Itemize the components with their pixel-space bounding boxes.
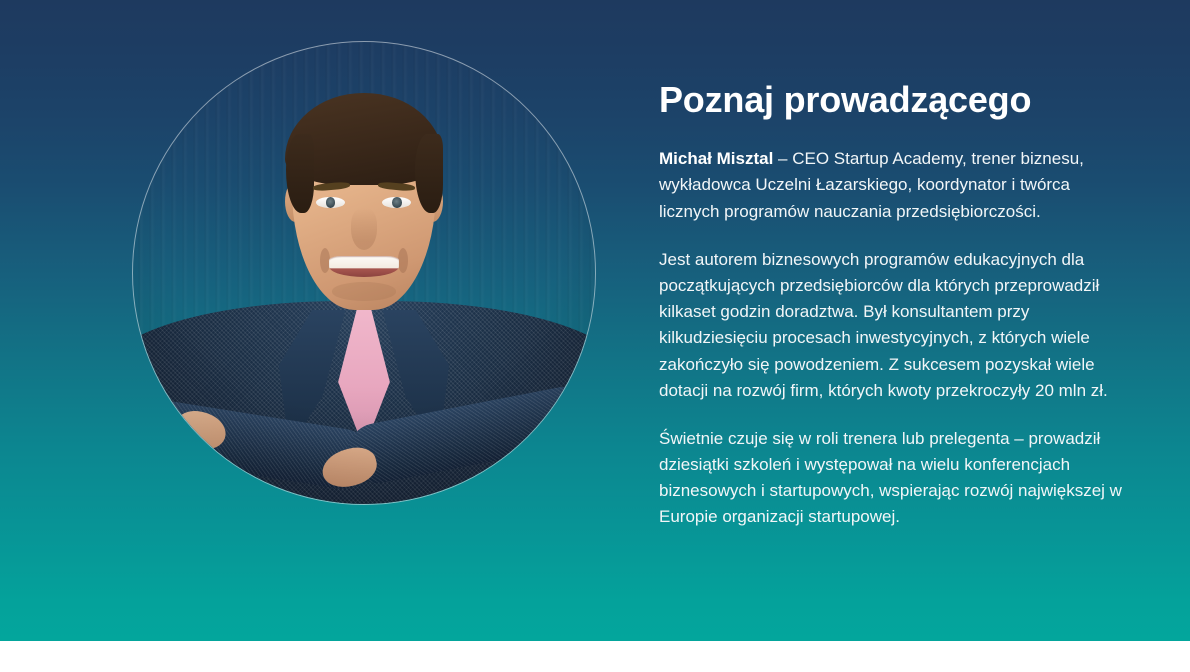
bottom-white-bar [0, 641, 1190, 672]
speaker-portrait-photo [133, 42, 595, 504]
photo-vignette [133, 42, 595, 504]
bio-paragraph-1: Michał Misztal – CEO Startup Academy, tr… [659, 146, 1129, 225]
slide-root: Poznaj prowadzącego Michał Misztal – CEO… [0, 0, 1190, 672]
speaker-text-column: Poznaj prowadzącego Michał Misztal – CEO… [659, 80, 1129, 531]
speaker-name: Michał Misztal [659, 149, 773, 168]
slide-heading: Poznaj prowadzącego [659, 80, 1129, 120]
bio-paragraph-3: Świetnie czuje się w roli trenera lub pr… [659, 426, 1129, 531]
bio-paragraph-2: Jest autorem biznesowych programów eduka… [659, 247, 1129, 404]
